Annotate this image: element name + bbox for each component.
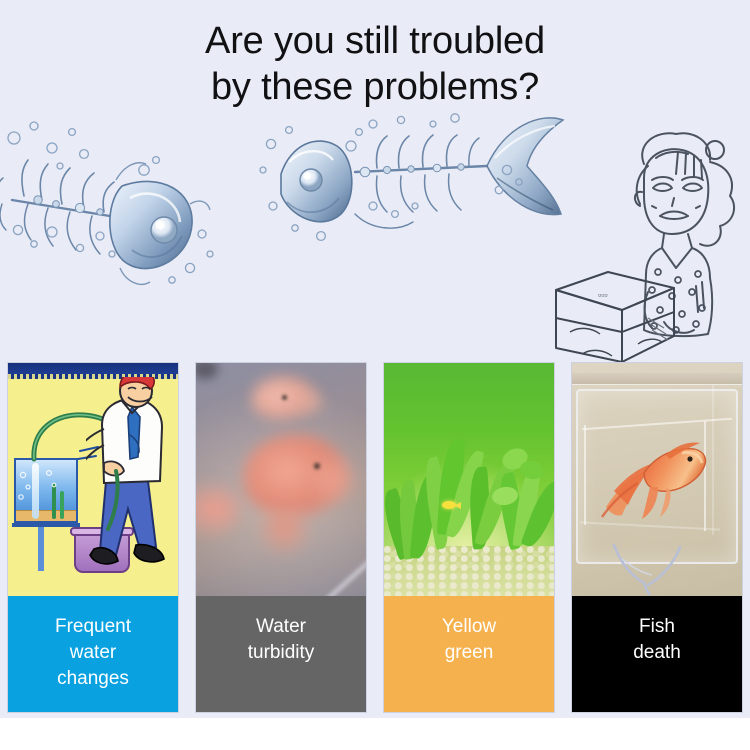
card-photo-turbid-water xyxy=(196,363,366,596)
caption-label: Water turbidity xyxy=(248,614,315,666)
problem-card-yellow-green[interactable]: Yellow green xyxy=(384,363,554,712)
svg-text:▫▫▫: ▫▫▫ xyxy=(598,290,608,300)
page-title: Are you still troubled by these problems… xyxy=(0,18,750,110)
hero-illustration: ▫▫▫ xyxy=(0,100,750,365)
caption-label: Yellow green xyxy=(442,614,496,666)
caption-label: Fish death xyxy=(633,614,681,666)
dead-goldfish-icon xyxy=(600,433,712,525)
poster-root: Are you still troubled by these problems… xyxy=(0,0,750,750)
problem-card-frequent-water-changes[interactable]: Frequent water changes xyxy=(8,363,178,712)
bottom-strip xyxy=(0,718,750,750)
water-fish-skeleton-left-icon xyxy=(0,108,259,293)
water-fish-skeleton-middle-icon xyxy=(255,110,570,260)
problem-card-row: Frequent water changes xyxy=(8,363,742,712)
cartoon-man-icon xyxy=(86,377,178,587)
card-caption-water-turbidity: Water turbidity xyxy=(196,596,366,712)
worried-girl-sketch-icon: ▫▫▫ xyxy=(552,122,750,362)
submerged-net-icon xyxy=(610,543,684,595)
card-caption-yellow-green: Yellow green xyxy=(384,596,554,712)
problem-card-water-turbidity[interactable]: Water turbidity xyxy=(196,363,366,712)
card-caption-fish-death: Fish death xyxy=(572,596,742,712)
card-photo-dead-fish xyxy=(572,363,742,596)
card-photo-water-change-cartoon xyxy=(8,363,178,596)
card-caption-frequent-water-changes: Frequent water changes xyxy=(8,596,178,712)
problem-card-fish-death[interactable]: Fish death xyxy=(572,363,742,712)
card-photo-algae-tank xyxy=(384,363,554,596)
caption-label: Frequent water changes xyxy=(55,614,131,692)
